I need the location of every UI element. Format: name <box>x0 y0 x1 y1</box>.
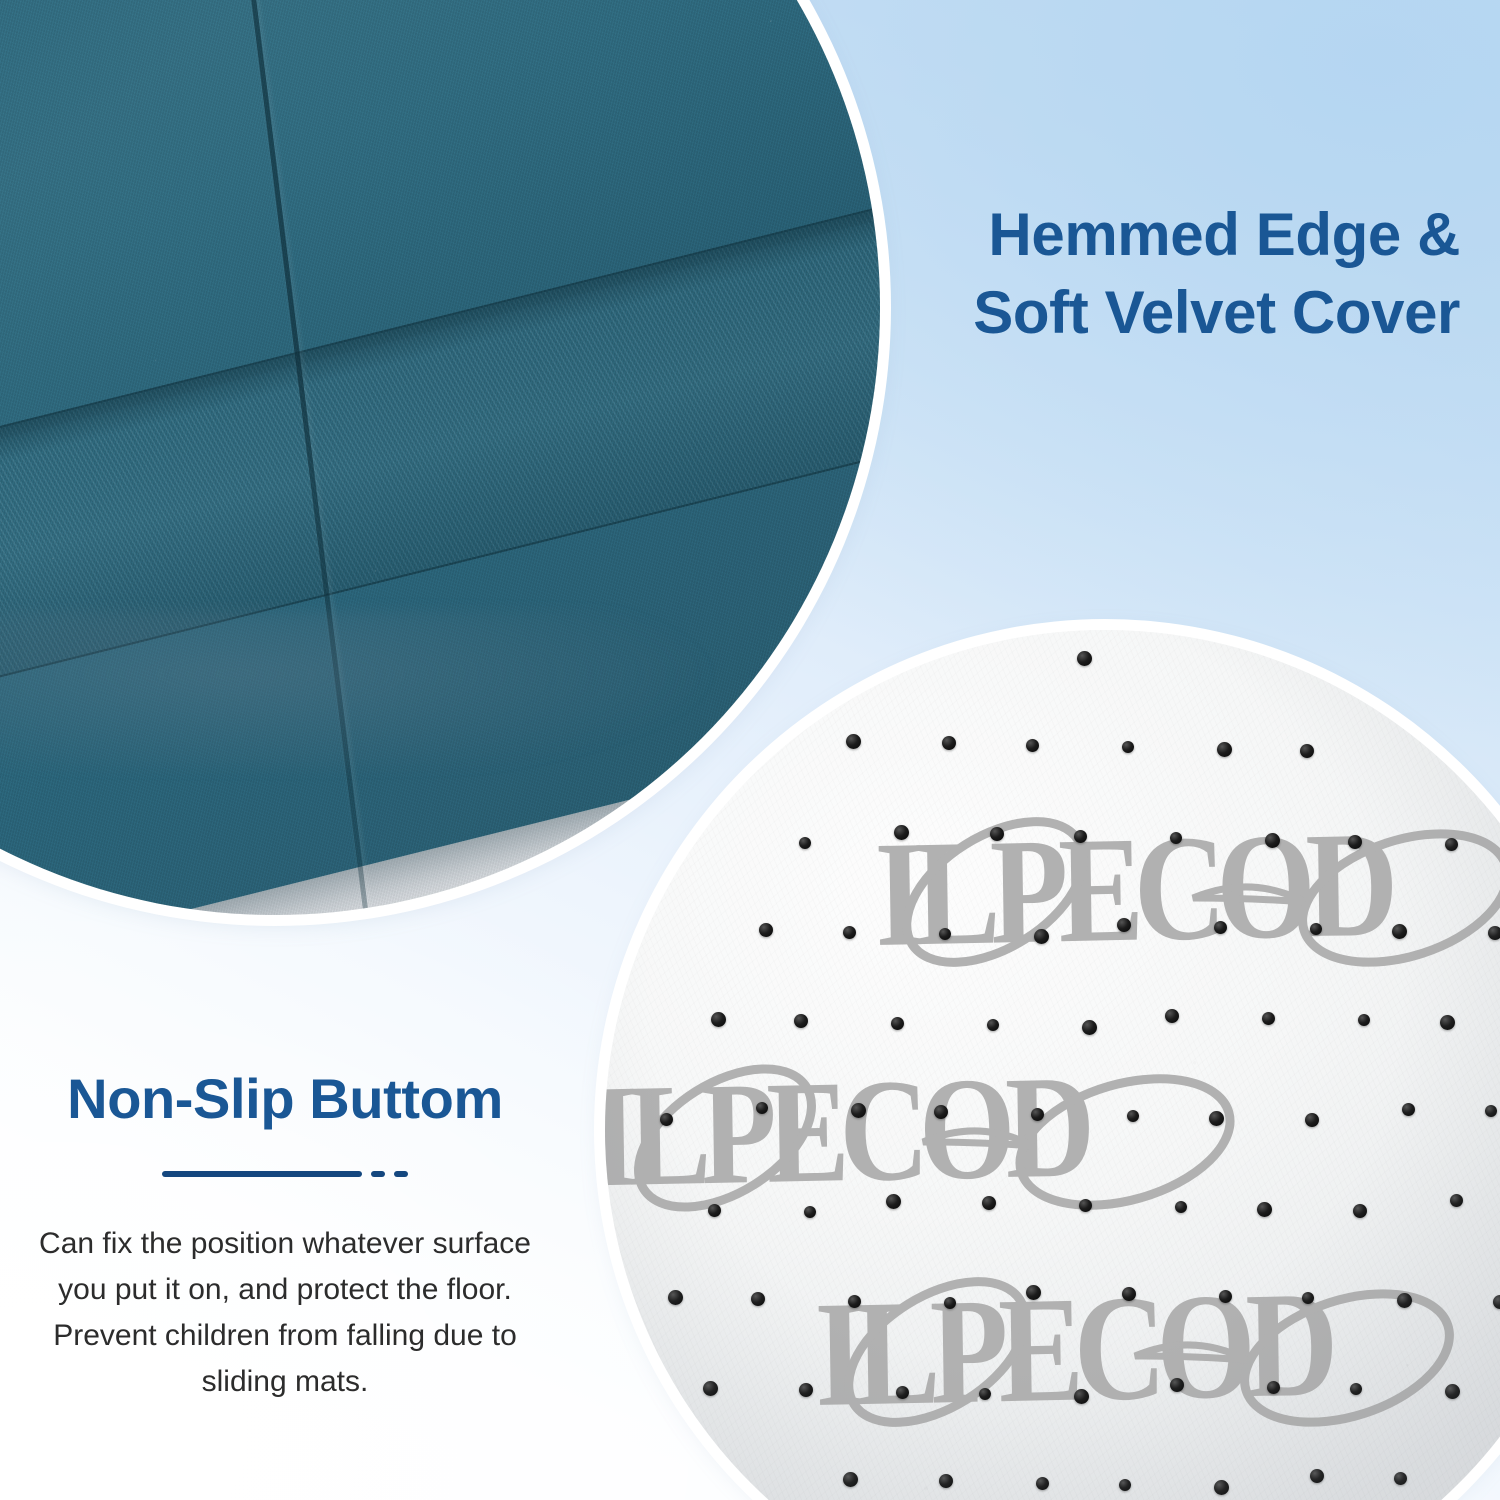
description-line-1: Can fix the position whatever surface <box>18 1221 552 1267</box>
title-divider <box>0 1171 570 1177</box>
divider-bar <box>162 1171 362 1177</box>
non-slip-description: Can fix the position whatever surface yo… <box>0 1221 570 1406</box>
headline-line-1: Hemmed Edge & <box>820 196 1460 274</box>
headline-line-2: Soft Velvet Cover <box>820 274 1460 352</box>
description-line-2: you put it on, and protect the floor. <box>18 1267 552 1313</box>
non-slip-feature-block: Non-Slip Buttom Can fix the position wha… <box>0 1068 570 1405</box>
non-slip-mat-bottom-photo: ILPECOD ILPECOD ILPECOD <box>605 630 1500 1500</box>
divider-dash-2 <box>394 1171 408 1177</box>
description-line-4: sliding mats. <box>18 1359 552 1405</box>
non-slip-title: Non-Slip Buttom <box>0 1068 570 1131</box>
hemmed-edge-headline: Hemmed Edge & Soft Velvet Cover <box>820 196 1460 352</box>
mat-vignette <box>605 630 1500 1500</box>
divider-dash-1 <box>371 1171 385 1177</box>
product-feature-graphic: ILPECOD ILPECOD ILPECOD Hemmed Edge & So… <box>0 0 1500 1500</box>
description-line-3: Prevent children from falling due to <box>18 1313 552 1359</box>
